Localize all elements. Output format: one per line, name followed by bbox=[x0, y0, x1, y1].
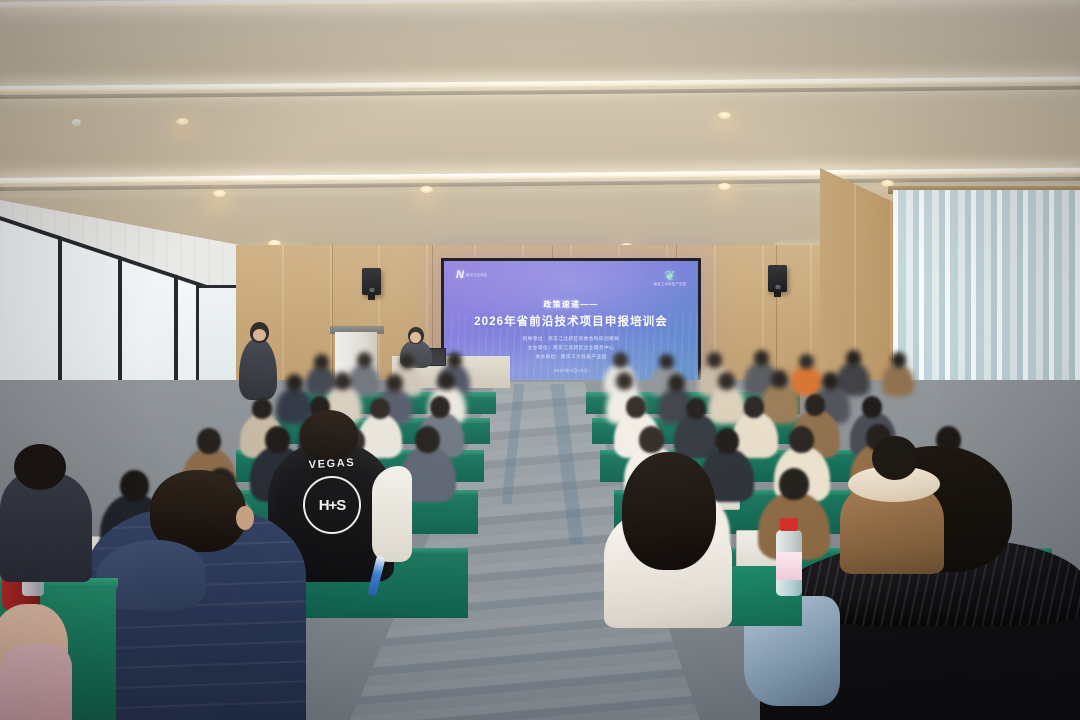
downlight bbox=[213, 190, 226, 197]
audience-head bbox=[265, 426, 290, 453]
audience-head bbox=[668, 374, 685, 392]
slide-meta-line: 指导单位：南京江北新区管委会科技创新局 bbox=[444, 335, 698, 344]
audience-head bbox=[891, 352, 906, 368]
navy-puffer-ear bbox=[236, 506, 254, 530]
audience-head bbox=[334, 372, 351, 390]
audience-head bbox=[400, 354, 414, 369]
standing-attendee-face bbox=[253, 329, 266, 341]
audience-head bbox=[744, 396, 764, 418]
audience-head bbox=[357, 352, 372, 368]
wall-speaker-left bbox=[362, 268, 381, 295]
audience-head bbox=[846, 350, 861, 366]
audience-head bbox=[613, 352, 628, 368]
audience-head bbox=[314, 354, 329, 370]
audience-member bbox=[674, 414, 718, 458]
audience-head bbox=[430, 396, 450, 418]
audience-head bbox=[715, 428, 739, 454]
audience-head bbox=[754, 350, 769, 366]
audience-head bbox=[415, 426, 440, 453]
audience-head bbox=[626, 396, 646, 418]
audience-head bbox=[779, 468, 809, 500]
slide-title-top: 政策速递—— bbox=[444, 299, 698, 310]
vegas-jacket-badge-icon: H+S bbox=[303, 476, 361, 534]
audience-head bbox=[789, 426, 814, 453]
audience-head bbox=[286, 374, 303, 392]
audience-head bbox=[120, 470, 149, 501]
logo-right-text: 南京工大科技产业园 bbox=[654, 282, 686, 287]
conference-room-photo: N 南京江北新区 ❦ 南京工大科技产业园 政策速递—— 2026年省前沿技术项目… bbox=[0, 0, 1080, 720]
tan-coat-attendee-head bbox=[872, 436, 918, 480]
audience-head bbox=[799, 354, 814, 369]
audience-head bbox=[252, 398, 272, 419]
water-bottle-label bbox=[776, 552, 802, 580]
beige-puffer-head bbox=[14, 444, 66, 490]
logo-mark-icon: N bbox=[456, 270, 463, 281]
audience-head bbox=[370, 398, 390, 419]
vegas-jacket-sleeve bbox=[372, 466, 412, 562]
audience-head bbox=[707, 352, 722, 368]
audience-head bbox=[771, 370, 788, 388]
white-coat-attendee-hair bbox=[622, 452, 716, 570]
ceiling-camera-icon bbox=[72, 119, 81, 126]
audience-head bbox=[639, 426, 664, 453]
screen-logo-left: N 南京江北新区 bbox=[456, 270, 488, 281]
audience-head bbox=[438, 372, 455, 390]
downlight bbox=[718, 183, 731, 190]
audience-member bbox=[882, 364, 914, 396]
wall-speaker-right bbox=[768, 265, 787, 292]
downlight bbox=[420, 186, 433, 193]
audience-head bbox=[862, 396, 882, 418]
seated-presenter-face bbox=[410, 332, 421, 343]
downlight bbox=[176, 118, 189, 125]
audience-head bbox=[197, 428, 221, 454]
slide-title-block: 政策速递—— 2026年省前沿技术项目申报培训会 bbox=[444, 299, 698, 329]
audience-head bbox=[659, 354, 674, 369]
audience-head bbox=[447, 352, 462, 368]
screen-logo-right: ❦ 南京工大科技产业园 bbox=[654, 269, 686, 287]
audience-head bbox=[686, 398, 706, 419]
audience-head bbox=[822, 372, 839, 390]
standing-attendee bbox=[239, 338, 277, 400]
audience-head bbox=[386, 374, 403, 392]
slide-meta-line: 主办单位：南京江北新区企业服务中心 bbox=[444, 344, 698, 353]
logo-leaf-icon: ❦ bbox=[654, 269, 686, 282]
downlight bbox=[718, 112, 731, 119]
audience-head bbox=[805, 394, 825, 416]
water-bottle-cap bbox=[780, 518, 798, 531]
logo-left-text: 南京江北新区 bbox=[466, 273, 488, 278]
vegas-attendee-head bbox=[300, 410, 358, 460]
audience-head bbox=[616, 372, 633, 390]
slide-title-main: 2026年省前沿技术项目申报培训会 bbox=[444, 313, 698, 329]
audience-head bbox=[718, 372, 735, 390]
pink-sleeve bbox=[0, 644, 72, 720]
